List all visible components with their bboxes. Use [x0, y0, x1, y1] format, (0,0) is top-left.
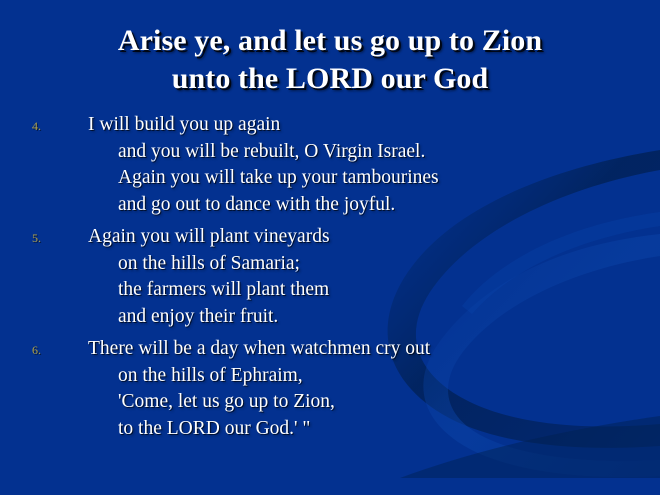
list-item: 4. I will build you up again and you wil…: [0, 112, 660, 218]
list-marker: 4.: [32, 120, 54, 132]
verse-line: and enjoy their fruit.: [88, 304, 660, 331]
verse-line: Again you will plant vineyards: [88, 224, 660, 251]
verse-line: There will be a day when watchmen cry ou…: [88, 336, 660, 363]
verse-line: I will build you up again: [88, 112, 660, 139]
verse-line: and go out to dance with the joyful.: [88, 192, 660, 219]
verse-line: to the LORD our God.' ": [88, 416, 660, 443]
scripture-list: 4. I will build you up again and you wil…: [0, 112, 660, 448]
slide-title: Arise ye, and let us go up to Zion unto …: [0, 22, 660, 98]
list-item-lines: Again you will plant vineyards on the hi…: [0, 224, 660, 330]
verse-line: 'Come, let us go up to Zion,: [88, 389, 660, 416]
title-line-2: unto the LORD our God: [0, 60, 660, 98]
title-line-1: Arise ye, and let us go up to Zion: [0, 22, 660, 60]
verse-line: and you will be rebuilt, O Virgin Israel…: [88, 139, 660, 166]
list-item-lines: I will build you up again and you will b…: [0, 112, 660, 218]
list-item: 6. There will be a day when watchmen cry…: [0, 336, 660, 442]
verse-line: on the hills of Ephraim,: [88, 363, 660, 390]
verse-line: Again you will take up your tambourines: [88, 165, 660, 192]
verse-line: on the hills of Samaria;: [88, 251, 660, 278]
list-item: 5. Again you will plant vineyards on the…: [0, 224, 660, 330]
list-marker: 6.: [32, 344, 54, 356]
verse-line: the farmers will plant them: [88, 277, 660, 304]
list-marker: 5.: [32, 232, 54, 244]
list-item-lines: There will be a day when watchmen cry ou…: [0, 336, 660, 442]
presentation-slide: Arise ye, and let us go up to Zion unto …: [0, 0, 660, 495]
